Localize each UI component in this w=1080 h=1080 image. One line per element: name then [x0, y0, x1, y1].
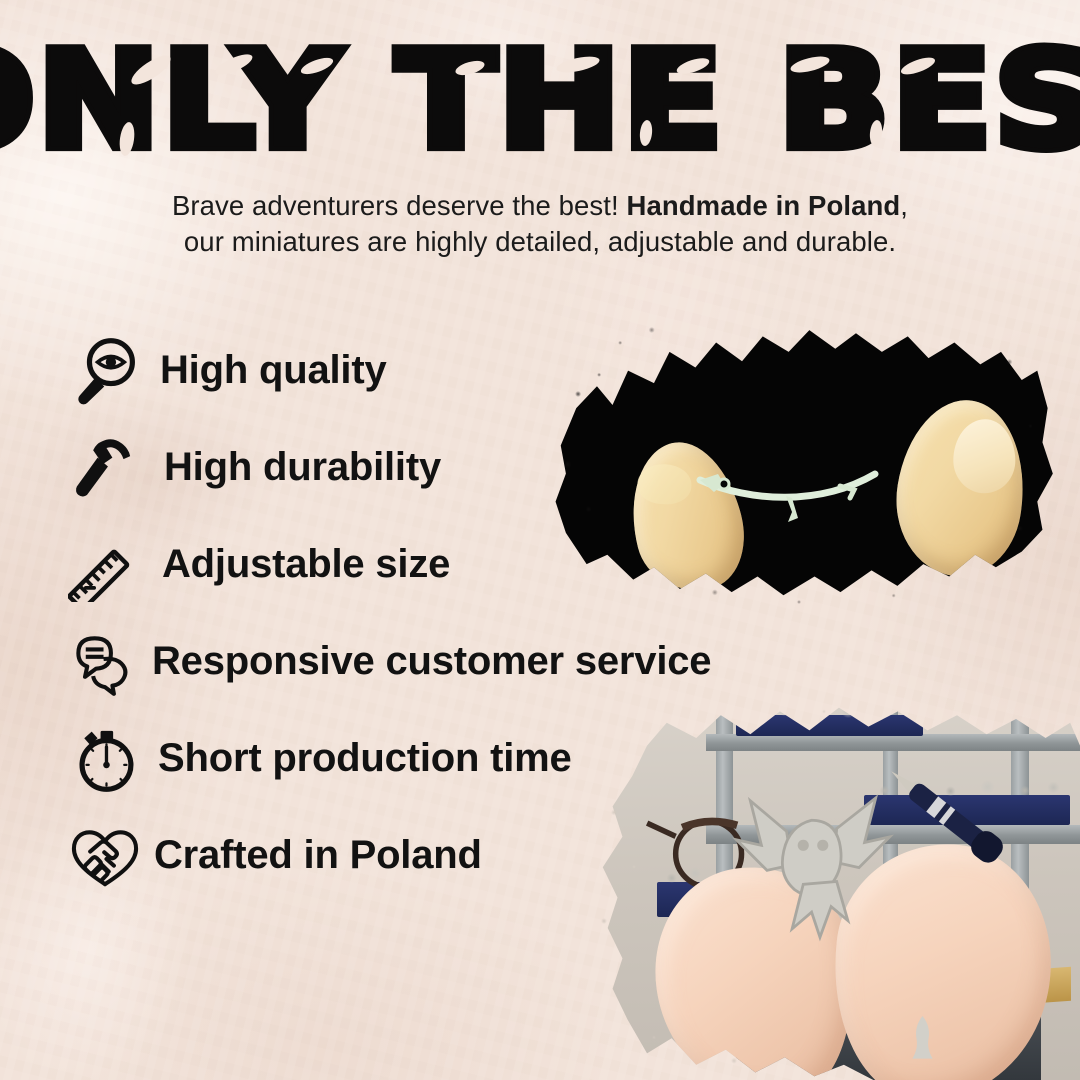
- subtitle-bold-phrase: Handmade in Poland: [627, 190, 901, 221]
- magnifier-eye-icon: [62, 328, 148, 414]
- feature-label: Crafted in Poland: [154, 833, 482, 878]
- hobby-knife: [844, 761, 1051, 875]
- photo-torn-mask: [588, 700, 1080, 1080]
- feature-label: Short production time: [158, 736, 572, 781]
- heart-handshake-icon: [62, 813, 148, 899]
- finger-right: [885, 391, 1037, 585]
- ruler-icon: [62, 522, 148, 608]
- workshop-crafting-photo: [588, 700, 1080, 1080]
- feature-label: High durability: [164, 445, 441, 490]
- subtitle-line-2: our miniatures are highly detailed, adju…: [0, 224, 1080, 260]
- photo-black-background: [540, 302, 1058, 614]
- flexibility-demo-photo: [540, 302, 1058, 614]
- subtitle: Brave adventurers deserve the best! Hand…: [0, 188, 1080, 260]
- desk-miniature-figure: [893, 1012, 952, 1073]
- feature-item-customer-service: Responsive customer service: [62, 613, 792, 710]
- feature-label: Responsive customer service: [152, 639, 711, 684]
- fingernail-right: [953, 419, 1016, 494]
- miniatures-on-shelf-upper: [736, 700, 923, 723]
- stopwatch-icon: [62, 716, 148, 802]
- shelf-beam-upper: [706, 734, 1080, 751]
- subtitle-comma: ,: [900, 190, 908, 221]
- feature-label: Adjustable size: [162, 542, 450, 587]
- fingernail-left: [637, 463, 692, 505]
- hammer-icon: [62, 425, 148, 511]
- subtitle-lead: Brave adventurers deserve the best!: [172, 190, 627, 221]
- infographic-canvas: ONLY THE BEST Brave adventurers deserve …: [0, 0, 1080, 1080]
- subtitle-line-1: Brave adventurers deserve the best! Hand…: [0, 188, 1080, 224]
- page-title: ONLY THE BEST: [0, 34, 1080, 160]
- speech-bubbles-icon: [62, 619, 148, 705]
- page-title-text: ONLY THE BEST: [0, 34, 1080, 168]
- finger-left: [615, 431, 756, 603]
- feature-label: High quality: [160, 348, 387, 393]
